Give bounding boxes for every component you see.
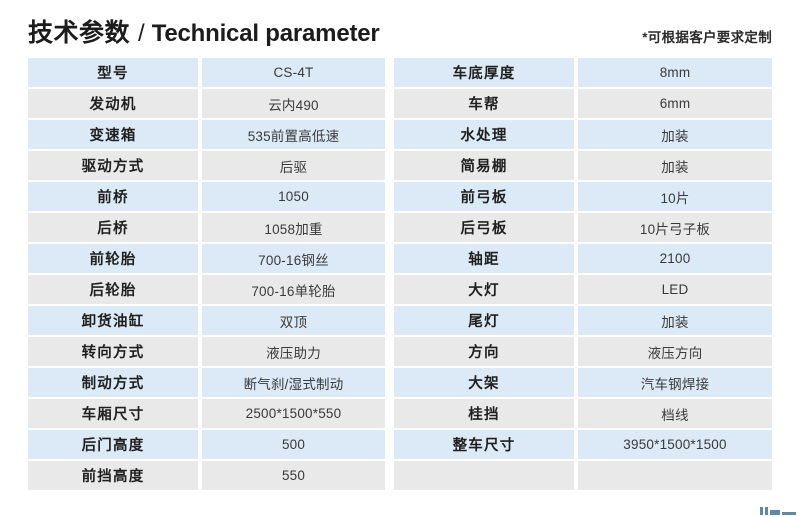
spec-row [394,461,772,490]
spec-row: 车帮6mm [394,89,772,118]
spec-label: 轴距 [394,244,574,273]
spec-row: 型号CS-4T [28,58,385,87]
spec-value: 500 [202,430,385,459]
watermark-bar-icon [765,507,768,515]
spec-row: 后桥1058加重 [28,213,385,242]
spec-label: 制动方式 [28,368,198,397]
spec-value: 加装 [578,151,772,180]
spec-row: 驱动方式后驱 [28,151,385,180]
spec-value [578,461,772,490]
page-title-chinese: 技术参数 [28,13,130,49]
spec-value: 3950*1500*1500 [578,430,772,459]
spec-value: 700-16单轮胎 [202,275,385,304]
spec-value: 液压方向 [578,337,772,366]
spec-label: 车厢尺寸 [28,399,198,428]
spec-row: 车厢尺寸2500*1500*550 [28,399,385,428]
spec-row: 车底厚度8mm [394,58,772,87]
spec-value: 加装 [578,120,772,149]
spec-row: 大架汽车钢焊接 [394,368,772,397]
spec-label: 前挡高度 [28,461,198,490]
spec-value: 云内490 [202,89,385,118]
spec-row: 卸货油缸双顶 [28,306,385,335]
spec-value: 双顶 [202,306,385,335]
spec-row: 尾灯加装 [394,306,772,335]
spec-value: 液压助力 [202,337,385,366]
spec-value: 700-16钢丝 [202,244,385,273]
spec-label: 变速箱 [28,120,198,149]
spec-value: 断气刹/湿式制动 [202,368,385,397]
spec-label: 尾灯 [394,306,574,335]
spec-label: 前桥 [28,182,198,211]
spec-label: 后弓板 [394,213,574,242]
spec-row: 前轮胎700-16钢丝 [28,244,385,273]
spec-row: 后轮胎700-16单轮胎 [28,275,385,304]
spec-value: 档线 [578,399,772,428]
spec-label: 车底厚度 [394,58,574,87]
watermark-bar-icon [770,510,780,515]
spec-label: 后门高度 [28,430,198,459]
spec-row: 发动机云内490 [28,89,385,118]
spec-value: LED [578,275,772,304]
spec-label: 型号 [28,58,198,87]
spec-value: 10片弓子板 [578,213,772,242]
spec-row: 前桥1050 [28,182,385,211]
spec-value: CS-4T [202,58,385,87]
spec-label: 转向方式 [28,337,198,366]
spec-label: 车帮 [394,89,574,118]
watermark-bar-icon [782,512,796,515]
spec-row: 变速箱535前置高低速 [28,120,385,149]
spec-value: 2500*1500*550 [202,399,385,428]
spec-row: 轴距2100 [394,244,772,273]
page-title: 技术参数 / Technical parameter [28,13,380,49]
spec-row: 桂挡档线 [394,399,772,428]
spec-value: 汽车钢焊接 [578,368,772,397]
spec-table-left: 型号CS-4T发动机云内490变速箱535前置高低速驱动方式后驱前桥1050后桥… [28,58,385,492]
spec-label: 前轮胎 [28,244,198,273]
spec-value: 1058加重 [202,213,385,242]
spec-row: 大灯LED [394,275,772,304]
spec-value: 后驱 [202,151,385,180]
spec-row: 前弓板10片 [394,182,772,211]
footer-watermark [760,507,796,515]
title-separator: / [138,20,145,48]
spec-label: 大灯 [394,275,574,304]
spec-label: 卸货油缸 [28,306,198,335]
spec-row: 方向液压方向 [394,337,772,366]
spec-row: 转向方式液压助力 [28,337,385,366]
spec-label: 整车尺寸 [394,430,574,459]
spec-label: 前弓板 [394,182,574,211]
spec-value: 6mm [578,89,772,118]
spec-label: 水处理 [394,120,574,149]
spec-row: 制动方式断气刹/湿式制动 [28,368,385,397]
spec-label: 桂挡 [394,399,574,428]
spec-value: 1050 [202,182,385,211]
spec-value: 10片 [578,182,772,211]
spec-row: 后门高度500 [28,430,385,459]
spec-label: 驱动方式 [28,151,198,180]
spec-row: 简易棚加装 [394,151,772,180]
spec-label: 后桥 [28,213,198,242]
spec-row: 整车尺寸3950*1500*1500 [394,430,772,459]
spec-value: 加装 [578,306,772,335]
spec-label: 大架 [394,368,574,397]
spec-label: 方向 [394,337,574,366]
spec-value: 8mm [578,58,772,87]
spec-row: 前挡高度550 [28,461,385,490]
spec-label: 后轮胎 [28,275,198,304]
spec-label: 发动机 [28,89,198,118]
spec-row: 水处理加装 [394,120,772,149]
spec-row: 后弓板10片弓子板 [394,213,772,242]
page-header: 技术参数 / Technical parameter *可根据客户要求定制 [0,0,800,58]
spec-value: 550 [202,461,385,490]
spec-value: 535前置高低速 [202,120,385,149]
spec-table-right: 车底厚度8mm车帮6mm水处理加装简易棚加装前弓板10片后弓板10片弓子板轴距2… [394,58,772,492]
watermark-bar-icon [760,507,763,515]
customization-note: *可根据客户要求定制 [642,26,772,46]
page-title-english: Technical parameter [152,20,380,48]
spec-label [394,461,574,490]
spec-value: 2100 [578,244,772,273]
spec-label: 简易棚 [394,151,574,180]
